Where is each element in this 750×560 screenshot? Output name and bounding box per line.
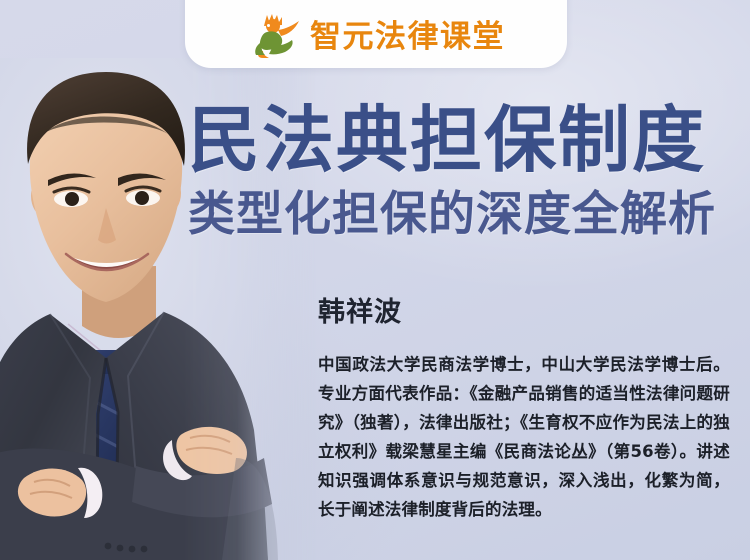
headline-block: 民法典担保制度 类型化担保的深度全解析 <box>188 102 744 241</box>
brand-name-text: 智元法律课堂 <box>310 22 505 53</box>
page-subtitle: 类型化担保的深度全解析 <box>188 190 744 241</box>
course-promo-banner: 智元法律课堂 民法典担保制度 类型化担保的深度全解析 韩祥波 中国政法大学民商法… <box>0 0 750 560</box>
instructor-block: 韩祥波 中国政法大学民商法学博士，中山大学民法学博士后。专业方面代表作品：《金融… <box>318 298 730 524</box>
page-title: 民法典担保制度 <box>188 102 744 178</box>
instructor-bio: 中国政法大学民商法学博士，中山大学民法学博士后。专业方面代表作品：《金融产品销售… <box>318 350 730 524</box>
seated-thinker-figure-icon <box>247 13 303 61</box>
instructor-name: 韩祥波 <box>318 298 730 328</box>
brand-logo-card: 智元法律课堂 <box>185 0 567 68</box>
